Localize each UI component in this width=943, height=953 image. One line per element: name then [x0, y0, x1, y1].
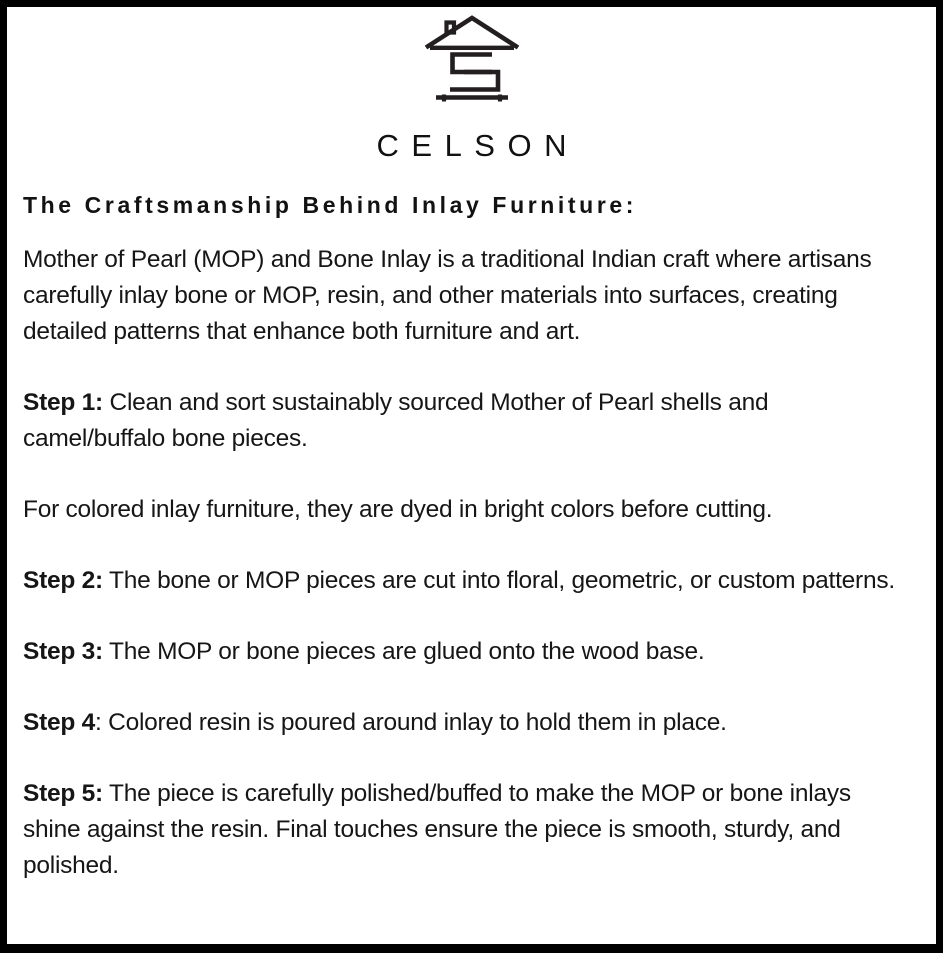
brand-wordmark: CELSON: [16, 130, 927, 161]
paragraph-lead: Step 3:: [23, 638, 103, 665]
paragraph-step-4: Step 4: Colored resin is poured around i…: [23, 705, 913, 741]
house-monogram-logo-icon: [420, 12, 524, 112]
paragraph-text: : Colored resin is poured around inlay t…: [95, 709, 727, 736]
paragraph-step-5: Step 5: The piece is carefully polished/…: [23, 776, 913, 884]
poster-card: CELSON The Craftsmanship Behind Inlay Fu…: [0, 0, 943, 953]
paragraph-text: The bone or MOP pieces are cut into flor…: [103, 567, 895, 594]
paragraph-dye-note: For colored inlay furniture, they are dy…: [23, 492, 913, 528]
paragraph-lead: Step 2:: [23, 567, 103, 594]
brand-block: CELSON: [16, 7, 927, 161]
paragraph-step-3: Step 3: The MOP or bone pieces are glued…: [23, 634, 913, 670]
paragraph-text: Mother of Pearl (MOP) and Bone Inlay is …: [23, 246, 872, 345]
paragraph-lead: Step 4: [23, 709, 95, 736]
paragraph-text: The MOP or bone pieces are glued onto th…: [103, 638, 704, 665]
paragraph-lead: Step 5:: [23, 780, 103, 807]
body-copy: Mother of Pearl (MOP) and Bone Inlay is …: [16, 242, 927, 884]
paragraph-step-2: Step 2: The bone or MOP pieces are cut i…: [23, 563, 913, 599]
paragraph-text: For colored inlay furniture, they are dy…: [23, 496, 772, 523]
page-title: The Craftsmanship Behind Inlay Furniture…: [16, 192, 927, 220]
paragraph-text: The piece is carefully polished/buffed t…: [23, 780, 851, 879]
paragraph-text: Clean and sort sustainably sourced Mothe…: [23, 389, 768, 452]
paragraph-lead: Step 1:: [23, 389, 103, 416]
poster-inner: CELSON The Craftsmanship Behind Inlay Fu…: [7, 7, 936, 944]
paragraph-step-1: Step 1: Clean and sort sustainably sourc…: [23, 385, 913, 457]
paragraph-intro: Mother of Pearl (MOP) and Bone Inlay is …: [23, 242, 913, 350]
